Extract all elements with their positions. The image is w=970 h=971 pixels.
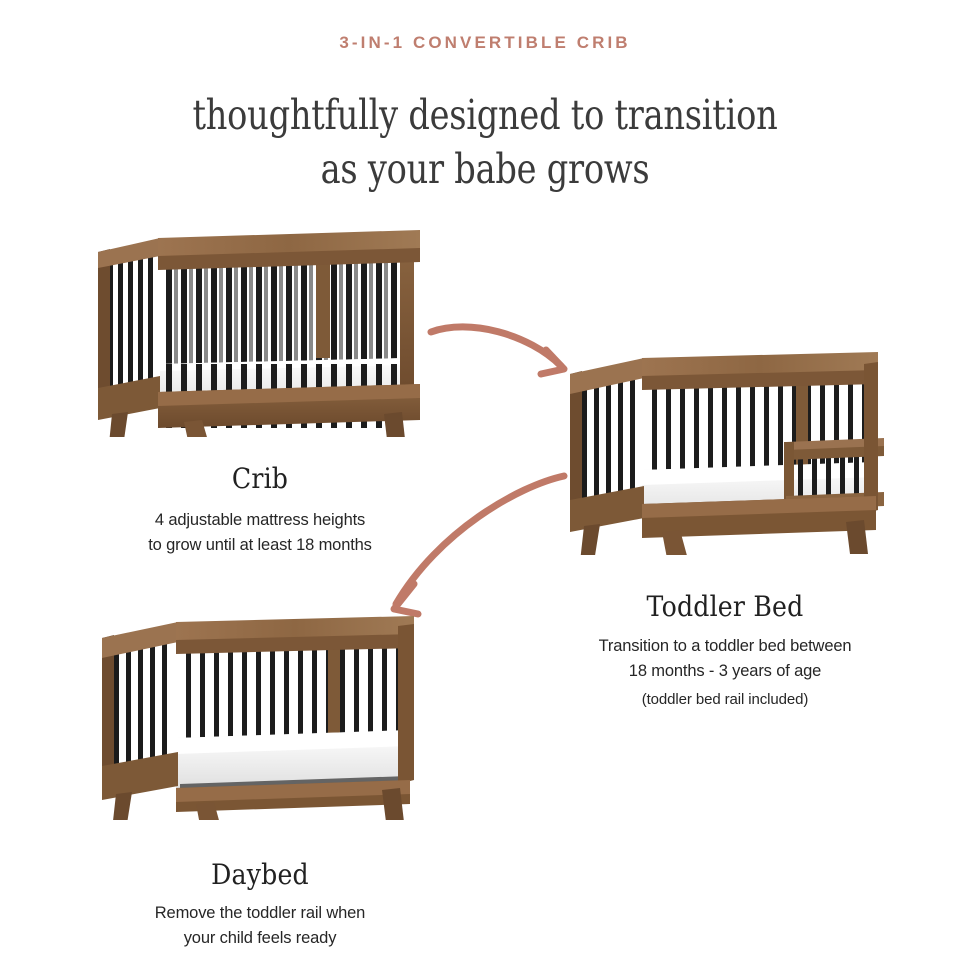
daybed-caption-body: Remove the toddler rail when your child …: [35, 901, 485, 951]
daybed-caption-line-1: Remove the toddler rail when: [155, 904, 365, 922]
headline-line-1: thoughtfully designed to transition: [192, 91, 777, 139]
daybed-caption-title: Daybed: [58, 858, 463, 891]
crib-illustration: [88, 222, 428, 437]
toddler-bed-caption-title: Toddler Bed: [523, 590, 928, 623]
toddler-bed-caption-body: Transition to a toddler bed between 18 m…: [500, 634, 950, 684]
eyebrow-label: 3-IN-1 CONVERTIBLE CRIB: [0, 33, 970, 53]
crib-caption-line-1: 4 adjustable mattress heights: [155, 511, 365, 529]
infographic-page: 3-IN-1 CONVERTIBLE CRIB thoughtfully des…: [0, 0, 970, 971]
daybed-caption-line-2: your child feels ready: [184, 929, 337, 947]
toddler-bed-illustration: [558, 350, 888, 555]
page-title: thoughtfully designed to transition as y…: [87, 88, 882, 196]
crib-caption-line-2: to grow until at least 18 months: [148, 536, 372, 554]
daybed-illustration: [88, 608, 428, 820]
headline-line-2: as your babe grows: [87, 142, 882, 196]
toddler-bed-caption-line-2: 18 months - 3 years of age: [629, 662, 821, 680]
toddler-bed-caption-line-1: Transition to a toddler bed between: [599, 637, 852, 655]
toddler-bed-caption-note: (toddler bed rail included): [500, 688, 950, 712]
crib-caption-title: Crib: [58, 462, 463, 495]
crib-caption-body: 4 adjustable mattress heights to grow un…: [35, 508, 485, 558]
